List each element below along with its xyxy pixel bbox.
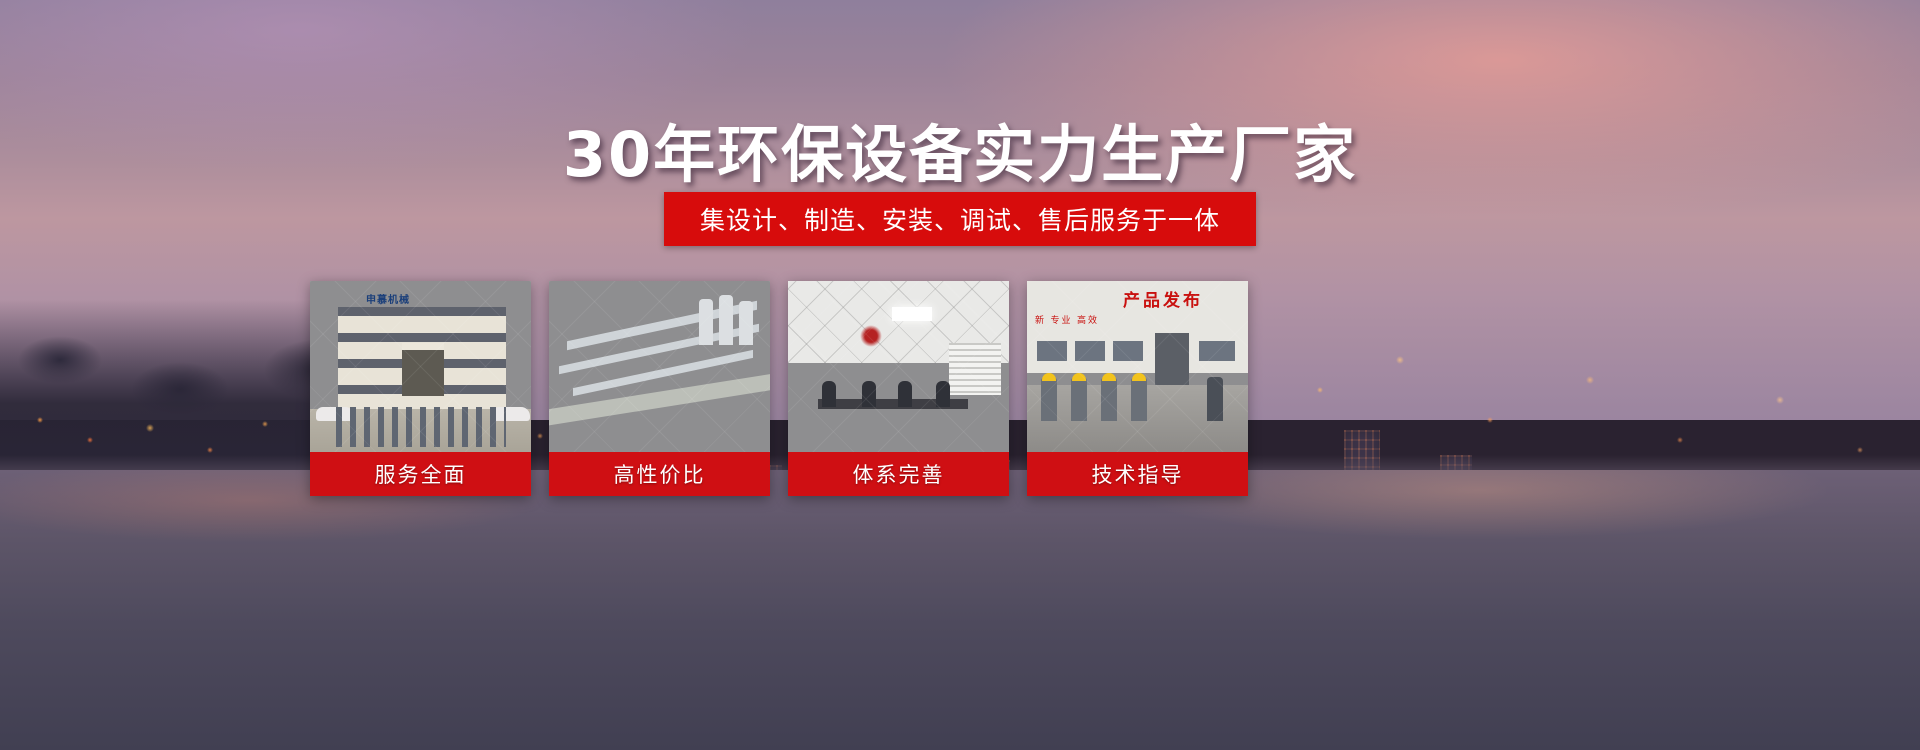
- feature-card[interactable]: 产品发布 新 专业 高效 技术指导: [1027, 281, 1248, 496]
- feature-card-label: 高性价比: [549, 452, 770, 496]
- feature-card-label: 技术指导: [1027, 452, 1248, 496]
- subtitle-banner: 集设计、制造、安装、调试、售后服务于一体: [664, 192, 1256, 246]
- feature-card[interactable]: 申慕机械 服务全面: [310, 281, 531, 496]
- factory-slogan-text: 新 专业 高效: [1035, 313, 1155, 337]
- office-building-staff-photo: 申慕机械: [310, 281, 531, 452]
- feature-card-label: 体系完善: [788, 452, 1009, 496]
- feature-card[interactable]: 高性价比: [549, 281, 770, 496]
- feature-card-list: 申慕机械 服务全面 高性价比: [310, 281, 1560, 496]
- factory-workers-photo: 产品发布 新 专业 高效: [1027, 281, 1248, 452]
- feature-card[interactable]: 体系完善: [788, 281, 1009, 496]
- page-title: 30年环保设备实力生产厂家: [0, 104, 1920, 194]
- feature-card-label: 服务全面: [310, 452, 531, 496]
- office-interior-staff-photo: [788, 281, 1009, 452]
- factory-sign-text: 产品发布: [1123, 285, 1246, 311]
- hero-banner: 30年环保设备实力生产厂家 集设计、制造、安装、调试、售后服务于一体 申慕机械 …: [0, 0, 1920, 750]
- building-sign-label: 申慕机械: [366, 291, 410, 306]
- industrial-plant-aerial-photo: [549, 281, 770, 452]
